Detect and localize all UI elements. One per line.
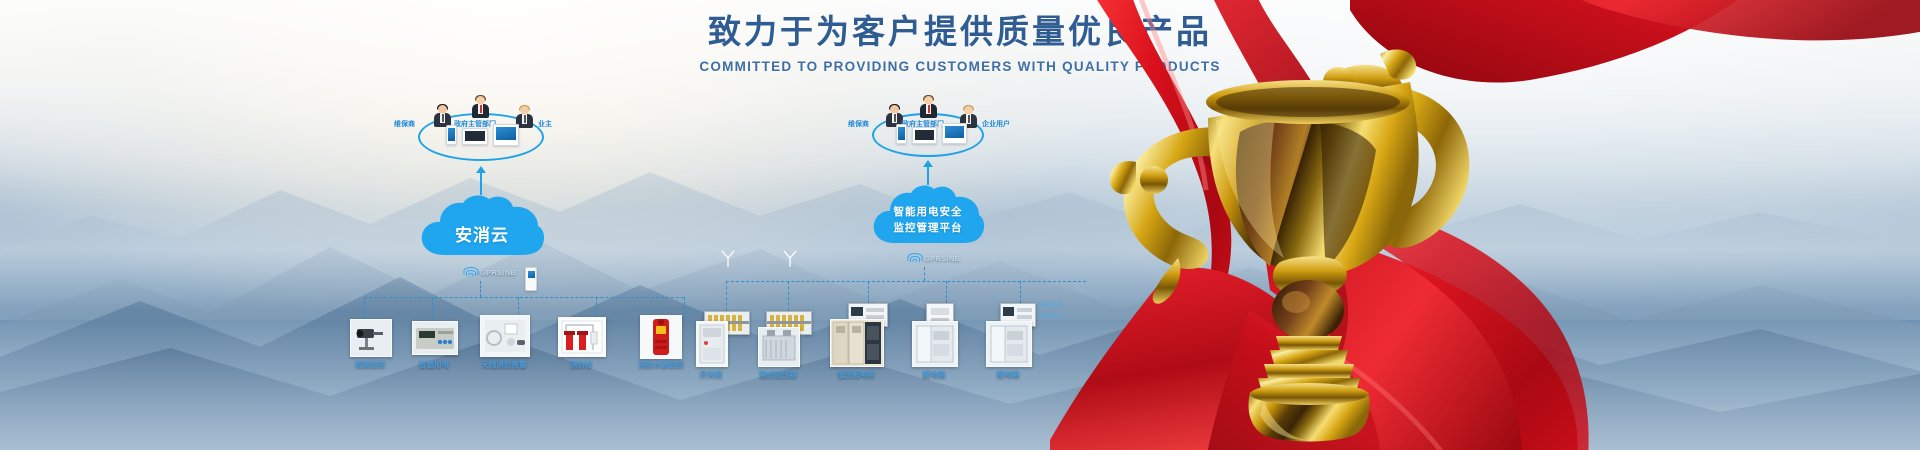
- ct-sensor-2: [782, 249, 798, 272]
- equipment-thumb-r2: [758, 327, 800, 367]
- equipment-label-r5: 配电箱: [982, 369, 1034, 380]
- equipment-thumb-2: [412, 321, 458, 355]
- module-tag-2: AF100-A+: [1038, 314, 1066, 320]
- equipment-thumb-r5: [986, 321, 1032, 367]
- wifi-icon-right: [908, 253, 921, 263]
- equipment-thumb-r3: [830, 319, 884, 367]
- role-label-owner-left: 业主: [538, 119, 552, 129]
- link-label-left: GPRS/NB: [480, 268, 516, 277]
- link-gprs-right: GPRS/NB: [908, 253, 960, 263]
- role-label-maintainer-right: 维保商: [848, 119, 869, 129]
- equipment-thumb-1: [350, 319, 392, 357]
- role-label-enterprise-right: 企业用户: [982, 119, 1010, 129]
- bus-branch-r4: [946, 281, 947, 303]
- cloud-power-platform: 智能用电安全 监控管理平台: [870, 185, 986, 247]
- equipment-label-5: 消防水源监控: [628, 359, 694, 370]
- equipment-label-r4: 配电箱: [908, 369, 960, 380]
- device-desktop-left: [493, 124, 519, 146]
- cloud-label-line2: 监控管理平台: [870, 220, 986, 235]
- bus-branch-l4: [596, 297, 597, 319]
- bus-branch-r2: [788, 281, 789, 311]
- page-subtitle: COMMITTED TO PROVIDING CUSTOMERS WITH QU…: [0, 59, 1920, 74]
- device-laptop-left: [462, 128, 488, 145]
- device-smartphone-right: [896, 124, 907, 144]
- bus-branch-r3: [868, 281, 869, 303]
- equipment-thumb-r4: [912, 321, 958, 367]
- bus-branch-l1: [364, 297, 365, 319]
- bus-horizontal-right: [726, 281, 1086, 282]
- equipment-label-4: 消防栓: [554, 359, 608, 370]
- uplink-arrowhead-left: [476, 166, 486, 173]
- headline-block: 致力于为客户提供质量优良产品 COMMITTED TO PROVIDING CU…: [0, 10, 1920, 74]
- bus-branch-r1: [726, 281, 727, 311]
- uplink-arrow-right: [927, 167, 929, 185]
- uplink-arrowhead-right: [923, 160, 933, 167]
- bus-drop-left: [480, 281, 481, 297]
- cloud-label-line1: 智能用电安全: [870, 204, 986, 219]
- equipment-label-r3: 低压配电柜: [822, 369, 890, 380]
- equipment-label-r1: 开关柜: [688, 369, 734, 380]
- equipment-label-2: 智慧用电: [408, 359, 460, 370]
- device-detector-left: [525, 267, 537, 291]
- device-desktop-right: [942, 123, 967, 144]
- link-gprs-left: GPRS/NB: [464, 267, 516, 277]
- equipment-label-r2: 箱式变压器: [748, 369, 808, 380]
- equipment-thumb-5: [640, 315, 682, 359]
- ct-sensor-1: [720, 249, 736, 272]
- gold-trophy: [1080, 10, 1580, 450]
- equipment-thumb-r1: [696, 321, 728, 367]
- equipment-thumb-4: [558, 317, 606, 357]
- fire-safety-cloud-diagram: 维保商 政府主管部门 业主: [350, 95, 730, 405]
- bus-horizontal-left: [364, 297, 684, 298]
- role-label-maintainer-left: 维保商: [394, 119, 415, 129]
- wifi-icon-left: [464, 267, 477, 277]
- bus-drop-right: [924, 267, 925, 281]
- bus-branch-l2: [432, 297, 433, 319]
- module-tag-1: AF100-B: [1038, 303, 1062, 309]
- uplink-arrow-left: [480, 173, 482, 195]
- cloud-label-anxiaoyun: 安消云: [418, 221, 546, 246]
- person-government-right: [920, 96, 937, 118]
- equipment-label-3: 无线消防报警: [470, 359, 538, 370]
- cloud-anxiaoyun: 安消云: [418, 195, 546, 259]
- bus-branch-r5: [1020, 281, 1021, 303]
- person-government-left: [472, 96, 489, 118]
- promo-banner: 致力于为客户提供质量优良产品 COMMITTED TO PROVIDING CU…: [0, 0, 1920, 450]
- power-safety-cloud-diagram: 维保商 政府主管部门 企业用户: [760, 95, 1140, 405]
- equipment-thumb-3: [480, 315, 530, 357]
- device-smartphone-left: [446, 125, 457, 145]
- bus-branch-l5: [684, 297, 685, 319]
- person-maintainer-left: [434, 105, 451, 127]
- page-title: 致力于为客户提供质量优良产品: [0, 10, 1920, 54]
- equipment-label-1: 视频监控: [346, 359, 394, 370]
- link-label-right: GPRS/NB: [924, 254, 960, 263]
- device-laptop-right: [912, 127, 937, 144]
